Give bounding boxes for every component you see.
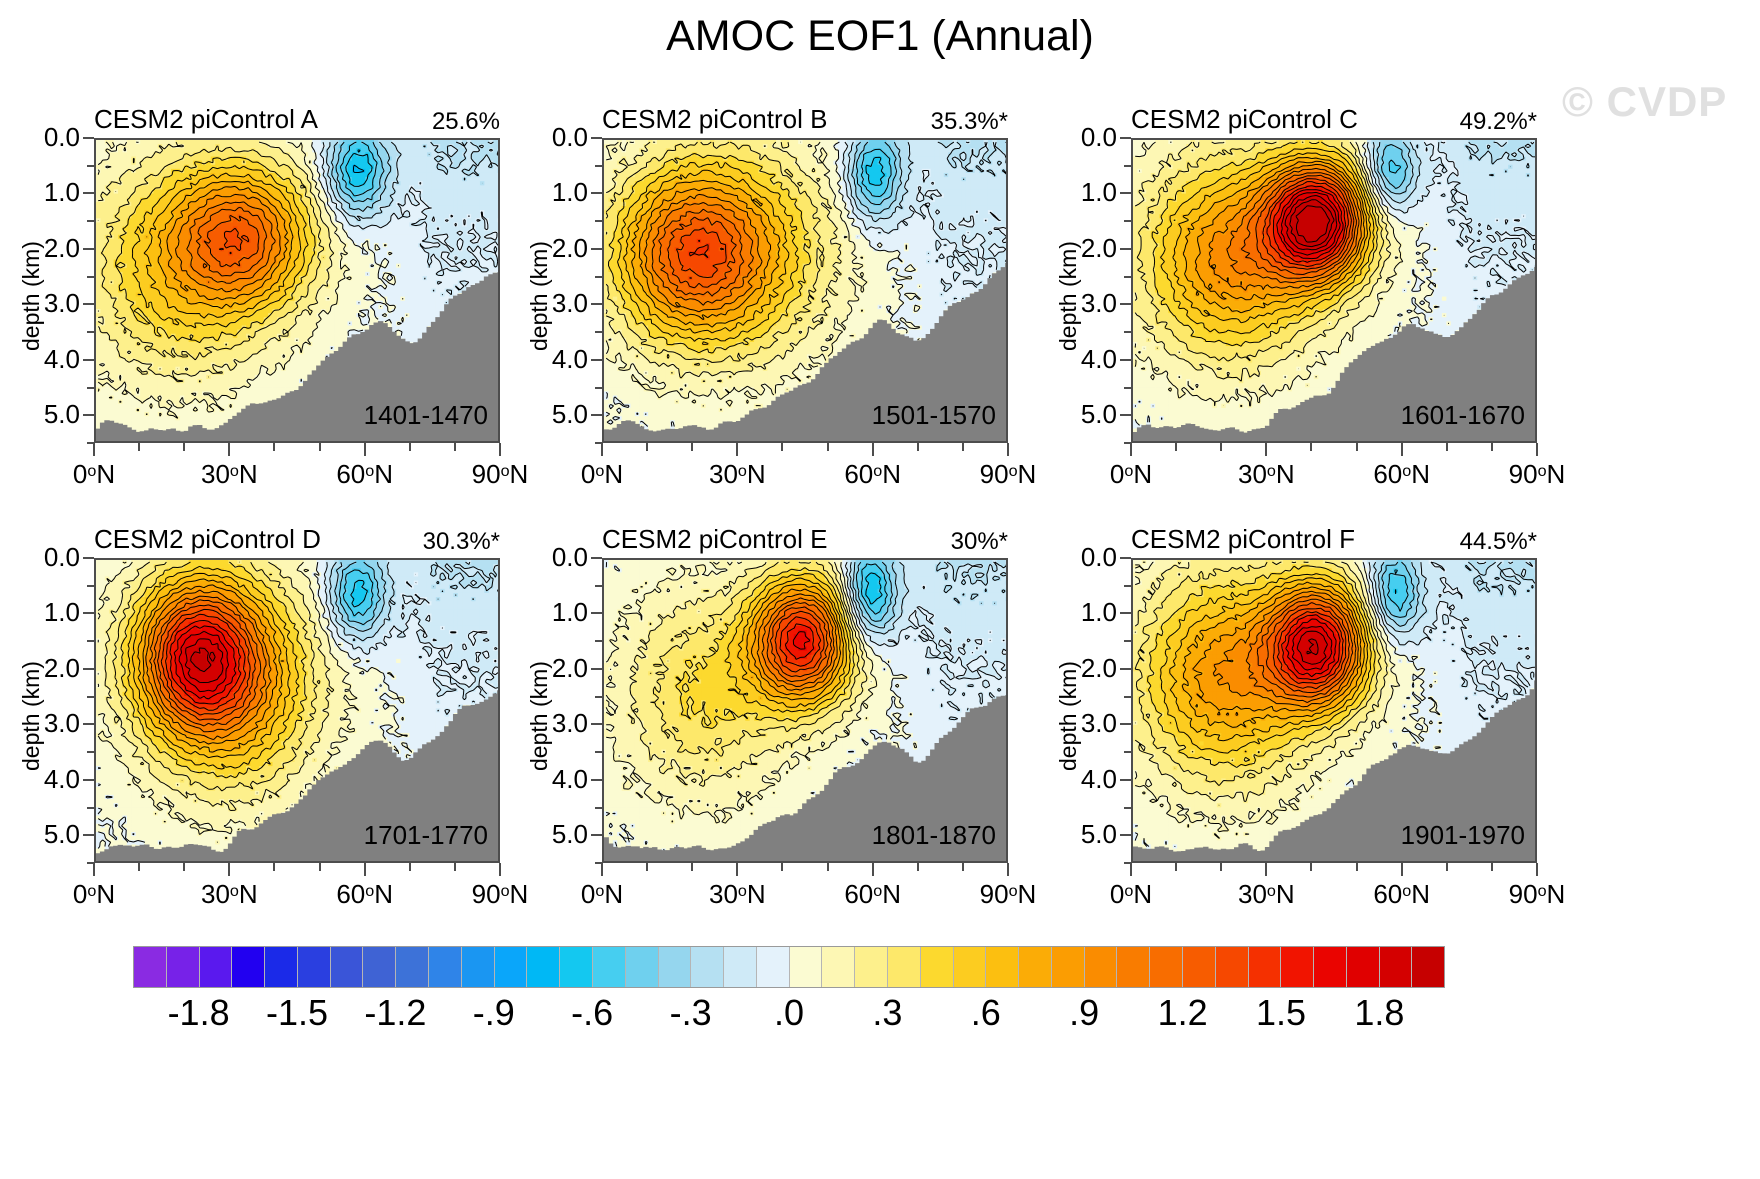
- x-minor-tick: [454, 863, 456, 871]
- y-minor-tick: [595, 640, 602, 642]
- x-major-tick: [601, 443, 603, 456]
- colorbar-swatch: [265, 947, 298, 987]
- y-minor-tick: [1124, 696, 1131, 698]
- x-major-tick: [1007, 443, 1009, 456]
- x-major-tick: [1265, 863, 1267, 876]
- y-minor-tick: [87, 165, 94, 167]
- x-major-tick: [499, 443, 501, 456]
- x-minor-tick: [1310, 863, 1312, 871]
- colorbar-swatch: [429, 947, 462, 987]
- y-major-tick: [591, 248, 602, 250]
- y-major-tick: [83, 192, 94, 194]
- x-major-tick: [1130, 443, 1132, 456]
- y-tick-label: 1.0: [524, 177, 588, 208]
- colorbar-tick-label: -1.2: [364, 992, 426, 1034]
- x-major-tick: [1536, 863, 1538, 876]
- y-minor-tick: [1124, 165, 1131, 167]
- x-tick-label: 30oN: [682, 459, 792, 490]
- colorbar-tick-label: 1.8: [1354, 992, 1404, 1034]
- colorbar-swatch: [855, 947, 888, 987]
- y-tick-label: 0.0: [1053, 542, 1117, 573]
- x-minor-tick: [646, 443, 648, 451]
- x-minor-tick: [409, 443, 411, 451]
- y-tick-label: 1.0: [1053, 597, 1117, 628]
- y-major-tick: [1120, 612, 1131, 614]
- x-minor-tick: [1446, 863, 1448, 871]
- y-major-tick: [591, 723, 602, 725]
- y-major-tick: [591, 137, 602, 139]
- y-minor-tick: [1124, 751, 1131, 753]
- y-tick-label: 0.0: [524, 542, 588, 573]
- y-major-tick: [591, 359, 602, 361]
- y-major-tick: [1120, 834, 1131, 836]
- y-tick-label: 5.0: [1053, 819, 1117, 850]
- contour-plot: [94, 138, 500, 443]
- colorbar-swatches: [133, 946, 1445, 988]
- colorbar-swatch: [1281, 947, 1314, 987]
- x-minor-tick: [1491, 863, 1493, 871]
- y-major-tick: [83, 359, 94, 361]
- y-minor-tick: [1124, 585, 1131, 587]
- y-minor-tick: [1124, 387, 1131, 389]
- y-minor-tick: [1124, 807, 1131, 809]
- y-major-tick: [591, 303, 602, 305]
- colorbar-swatch: [593, 947, 626, 987]
- colorbar-swatch: [626, 947, 659, 987]
- contour-plot: [1131, 138, 1537, 443]
- panel-title: CESM2 piControl A: [94, 104, 318, 135]
- colorbar-swatch: [1347, 947, 1380, 987]
- x-minor-tick: [409, 863, 411, 871]
- y-major-tick: [83, 612, 94, 614]
- x-minor-tick: [1175, 863, 1177, 871]
- y-tick-label: 3.0: [1053, 288, 1117, 319]
- y-tick-label: 3.0: [524, 708, 588, 739]
- colorbar-swatch: [462, 947, 495, 987]
- x-minor-tick: [454, 443, 456, 451]
- colorbar-swatch: [1412, 947, 1444, 987]
- colorbar-swatch: [1150, 947, 1183, 987]
- colorbar-swatch: [1019, 947, 1052, 987]
- x-minor-tick: [781, 863, 783, 871]
- panel-title: CESM2 piControl F: [1131, 524, 1355, 555]
- y-major-tick: [1120, 137, 1131, 139]
- colorbar-tick-label: 1.2: [1158, 992, 1208, 1034]
- colorbar-swatch: [1052, 947, 1085, 987]
- y-minor-tick: [87, 387, 94, 389]
- y-major-tick: [591, 668, 602, 670]
- x-minor-tick: [827, 863, 829, 871]
- y-tick-label: 1.0: [524, 597, 588, 628]
- y-major-tick: [83, 723, 94, 725]
- y-tick-label: 0.0: [1053, 122, 1117, 153]
- y-tick-label: 2.0: [524, 653, 588, 684]
- y-major-tick: [591, 834, 602, 836]
- colorbar-swatch: [1117, 947, 1150, 987]
- colorbar-tick-label: -.9: [473, 992, 515, 1034]
- contour-plot: [1131, 558, 1537, 863]
- y-tick-label: 2.0: [16, 233, 80, 264]
- y-tick-label: 3.0: [16, 708, 80, 739]
- y-tick-label: 1.0: [16, 597, 80, 628]
- panel-d: CESM2 piControl D30.3%*1701-1770depth (k…: [94, 558, 500, 863]
- x-major-tick: [364, 863, 366, 876]
- x-major-tick: [601, 863, 603, 876]
- y-minor-tick: [595, 807, 602, 809]
- y-tick-label: 4.0: [1053, 764, 1117, 795]
- x-minor-tick: [138, 863, 140, 871]
- x-major-tick: [736, 863, 738, 876]
- x-minor-tick: [319, 443, 321, 451]
- y-minor-tick: [87, 807, 94, 809]
- x-major-tick: [872, 863, 874, 876]
- y-tick-label: 2.0: [1053, 653, 1117, 684]
- x-minor-tick: [1491, 443, 1493, 451]
- variance-explained-label: 25.6%: [432, 108, 500, 136]
- colorbar-swatch: [232, 947, 265, 987]
- y-minor-tick: [87, 696, 94, 698]
- year-range-label: 1501-1570: [872, 400, 996, 431]
- colorbar-swatch: [888, 947, 921, 987]
- colorbar-swatch: [396, 947, 429, 987]
- y-tick-label: 0.0: [524, 122, 588, 153]
- colorbar-swatch: [495, 947, 528, 987]
- x-tick-label: 60oN: [818, 879, 928, 910]
- panel-title: CESM2 piControl B: [602, 104, 827, 135]
- colorbar-swatch: [724, 947, 757, 987]
- cvdp-watermark: © CVDP: [1562, 78, 1727, 126]
- year-range-label: 1401-1470: [364, 400, 488, 431]
- variance-explained-label: 49.2%*: [1460, 108, 1537, 136]
- colorbar-swatch: [560, 947, 593, 987]
- y-minor-tick: [595, 276, 602, 278]
- y-minor-tick: [595, 585, 602, 587]
- x-minor-tick: [273, 863, 275, 871]
- x-major-tick: [736, 443, 738, 456]
- x-major-tick: [872, 443, 874, 456]
- y-minor-tick: [1124, 640, 1131, 642]
- x-minor-tick: [273, 443, 275, 451]
- colorbar-swatch: [790, 947, 823, 987]
- x-tick-label: 0oN: [1076, 459, 1186, 490]
- x-tick-label: 0oN: [39, 879, 149, 910]
- colorbar-swatch: [1314, 947, 1347, 987]
- colorbar-tick-label: .3: [872, 992, 902, 1034]
- y-tick-label: 4.0: [524, 344, 588, 375]
- y-minor-tick: [1124, 276, 1131, 278]
- x-tick-label: 60oN: [1347, 459, 1457, 490]
- y-major-tick: [591, 414, 602, 416]
- x-minor-tick: [962, 863, 964, 871]
- panel-b: CESM2 piControl B35.3%*1501-1570depth (k…: [602, 138, 1008, 443]
- y-minor-tick: [1124, 220, 1131, 222]
- y-major-tick: [1120, 248, 1131, 250]
- y-minor-tick: [87, 220, 94, 222]
- y-tick-label: 4.0: [1053, 344, 1117, 375]
- y-tick-label: 4.0: [524, 764, 588, 795]
- panel-a: CESM2 piControl A25.6%1401-1470depth (km…: [94, 138, 500, 443]
- y-tick-label: 1.0: [16, 177, 80, 208]
- y-tick-label: 5.0: [524, 819, 588, 850]
- colorbar-swatch: [986, 947, 1019, 987]
- colorbar-swatch: [757, 947, 790, 987]
- y-major-tick: [83, 557, 94, 559]
- y-major-tick: [1120, 192, 1131, 194]
- y-major-tick: [83, 303, 94, 305]
- colorbar-swatch: [659, 947, 692, 987]
- x-major-tick: [228, 863, 230, 876]
- y-tick-label: 5.0: [524, 399, 588, 430]
- colorbar-tick-label: -1.5: [266, 992, 328, 1034]
- y-major-tick: [83, 834, 94, 836]
- colorbar-swatch: [921, 947, 954, 987]
- y-minor-tick: [595, 696, 602, 698]
- y-major-tick: [83, 137, 94, 139]
- y-minor-tick: [595, 387, 602, 389]
- x-minor-tick: [962, 443, 964, 451]
- colorbar-swatch: [331, 947, 364, 987]
- colorbar-swatch: [1085, 947, 1118, 987]
- x-major-tick: [93, 443, 95, 456]
- x-tick-label: 90oN: [953, 879, 1063, 910]
- y-minor-tick: [595, 220, 602, 222]
- x-minor-tick: [1356, 443, 1358, 451]
- colorbar-swatch: [954, 947, 987, 987]
- variance-explained-label: 30%*: [951, 528, 1008, 556]
- y-minor-tick: [87, 751, 94, 753]
- x-minor-tick: [183, 863, 185, 871]
- x-major-tick: [1401, 443, 1403, 456]
- year-range-label: 1601-1670: [1401, 400, 1525, 431]
- x-major-tick: [1401, 863, 1403, 876]
- y-tick-label: 2.0: [524, 233, 588, 264]
- colorbar-swatch: [1183, 947, 1216, 987]
- colorbar-swatch: [134, 947, 167, 987]
- x-tick-label: 30oN: [174, 459, 284, 490]
- colorbar-tick-label: 1.5: [1256, 992, 1306, 1034]
- x-major-tick: [1007, 863, 1009, 876]
- y-major-tick: [591, 612, 602, 614]
- contour-plot: [602, 138, 1008, 443]
- y-tick-label: 2.0: [1053, 233, 1117, 264]
- contour-plot: [94, 558, 500, 863]
- x-tick-label: 0oN: [547, 879, 657, 910]
- x-tick-label: 60oN: [310, 879, 420, 910]
- y-tick-label: 5.0: [1053, 399, 1117, 430]
- colorbar-tick-label: -1.8: [168, 992, 230, 1034]
- figure-title: AMOC EOF1 (Annual): [0, 12, 1760, 61]
- y-minor-tick: [87, 640, 94, 642]
- x-tick-label: 30oN: [682, 879, 792, 910]
- x-minor-tick: [917, 443, 919, 451]
- panel-title: CESM2 piControl C: [1131, 104, 1358, 135]
- x-tick-label: 90oN: [445, 459, 555, 490]
- x-tick-label: 90oN: [445, 879, 555, 910]
- colorbar-tick-label: .6: [971, 992, 1001, 1034]
- x-tick-label: 30oN: [1211, 879, 1321, 910]
- x-major-tick: [364, 443, 366, 456]
- colorbar-swatch: [1249, 947, 1282, 987]
- y-minor-tick: [595, 751, 602, 753]
- x-tick-label: 90oN: [1482, 879, 1592, 910]
- variance-explained-label: 35.3%*: [931, 108, 1008, 136]
- year-range-label: 1901-1970: [1401, 820, 1525, 851]
- y-tick-label: 3.0: [524, 288, 588, 319]
- colorbar-tick-label: -.6: [571, 992, 613, 1034]
- x-minor-tick: [1310, 443, 1312, 451]
- colorbar-swatch: [298, 947, 331, 987]
- colorbar: -1.8-1.5-1.2-.9-.6-.3.0.3.6.91.21.51.8: [133, 946, 1445, 1040]
- x-minor-tick: [781, 443, 783, 451]
- y-tick-label: 1.0: [1053, 177, 1117, 208]
- y-major-tick: [591, 557, 602, 559]
- x-tick-label: 30oN: [174, 879, 284, 910]
- colorbar-swatch: [200, 947, 233, 987]
- y-major-tick: [1120, 668, 1131, 670]
- colorbar-tick-label: -.3: [670, 992, 712, 1034]
- x-minor-tick: [1356, 863, 1358, 871]
- x-minor-tick: [827, 443, 829, 451]
- y-major-tick: [1120, 303, 1131, 305]
- y-minor-tick: [87, 331, 94, 333]
- colorbar-swatch: [822, 947, 855, 987]
- y-tick-label: 5.0: [16, 819, 80, 850]
- colorbar-swatch: [527, 947, 560, 987]
- x-tick-label: 60oN: [310, 459, 420, 490]
- y-tick-label: 0.0: [16, 542, 80, 573]
- colorbar-tick-labels: -1.8-1.5-1.2-.9-.6-.3.0.3.6.91.21.51.8: [133, 988, 1445, 1040]
- y-major-tick: [591, 192, 602, 194]
- colorbar-swatch: [363, 947, 396, 987]
- colorbar-tick-label: .0: [774, 992, 804, 1034]
- x-tick-label: 60oN: [818, 459, 928, 490]
- y-tick-label: 4.0: [16, 344, 80, 375]
- y-minor-tick: [1124, 331, 1131, 333]
- y-major-tick: [83, 248, 94, 250]
- x-tick-label: 0oN: [39, 459, 149, 490]
- x-minor-tick: [1220, 863, 1222, 871]
- year-range-label: 1801-1870: [872, 820, 996, 851]
- x-tick-label: 30oN: [1211, 459, 1321, 490]
- y-major-tick: [83, 779, 94, 781]
- colorbar-swatch: [1380, 947, 1413, 987]
- y-tick-label: 3.0: [16, 288, 80, 319]
- x-minor-tick: [1175, 443, 1177, 451]
- y-tick-label: 3.0: [1053, 708, 1117, 739]
- x-minor-tick: [1220, 443, 1222, 451]
- y-major-tick: [83, 668, 94, 670]
- panel-e: CESM2 piControl E30%*1801-1870depth (km)…: [602, 558, 1008, 863]
- year-range-label: 1701-1770: [364, 820, 488, 851]
- x-major-tick: [1265, 443, 1267, 456]
- x-tick-label: 60oN: [1347, 879, 1457, 910]
- x-major-tick: [499, 863, 501, 876]
- y-minor-tick: [87, 276, 94, 278]
- x-minor-tick: [138, 443, 140, 451]
- y-minor-tick: [595, 165, 602, 167]
- x-tick-label: 90oN: [953, 459, 1063, 490]
- y-major-tick: [1120, 723, 1131, 725]
- y-major-tick: [591, 779, 602, 781]
- y-major-tick: [1120, 359, 1131, 361]
- x-tick-label: 90oN: [1482, 459, 1592, 490]
- colorbar-swatch: [167, 947, 200, 987]
- colorbar-swatch: [1216, 947, 1249, 987]
- panel-f: CESM2 piControl F44.5%*1901-1970depth (k…: [1131, 558, 1537, 863]
- y-tick-label: 4.0: [16, 764, 80, 795]
- x-major-tick: [228, 443, 230, 456]
- x-minor-tick: [691, 443, 693, 451]
- y-major-tick: [1120, 414, 1131, 416]
- colorbar-swatch: [691, 947, 724, 987]
- figure-canvas: AMOC EOF1 (Annual) © CVDP CESM2 piContro…: [0, 0, 1760, 1179]
- x-minor-tick: [646, 863, 648, 871]
- panel-title: CESM2 piControl E: [602, 524, 827, 555]
- y-minor-tick: [87, 585, 94, 587]
- contour-plot: [602, 558, 1008, 863]
- x-minor-tick: [917, 863, 919, 871]
- y-tick-label: 2.0: [16, 653, 80, 684]
- y-major-tick: [1120, 779, 1131, 781]
- x-minor-tick: [1446, 443, 1448, 451]
- y-minor-tick: [595, 331, 602, 333]
- x-minor-tick: [319, 863, 321, 871]
- y-major-tick: [1120, 557, 1131, 559]
- x-tick-label: 0oN: [1076, 879, 1186, 910]
- panel-c: CESM2 piControl C49.2%*1601-1670depth (k…: [1131, 138, 1537, 443]
- x-major-tick: [93, 863, 95, 876]
- y-tick-label: 0.0: [16, 122, 80, 153]
- x-major-tick: [1130, 863, 1132, 876]
- y-major-tick: [83, 414, 94, 416]
- y-tick-label: 5.0: [16, 399, 80, 430]
- panel-title: CESM2 piControl D: [94, 524, 321, 555]
- x-tick-label: 0oN: [547, 459, 657, 490]
- x-minor-tick: [691, 863, 693, 871]
- x-minor-tick: [183, 443, 185, 451]
- x-major-tick: [1536, 443, 1538, 456]
- variance-explained-label: 30.3%*: [423, 528, 500, 556]
- variance-explained-label: 44.5%*: [1460, 528, 1537, 556]
- colorbar-tick-label: .9: [1069, 992, 1099, 1034]
